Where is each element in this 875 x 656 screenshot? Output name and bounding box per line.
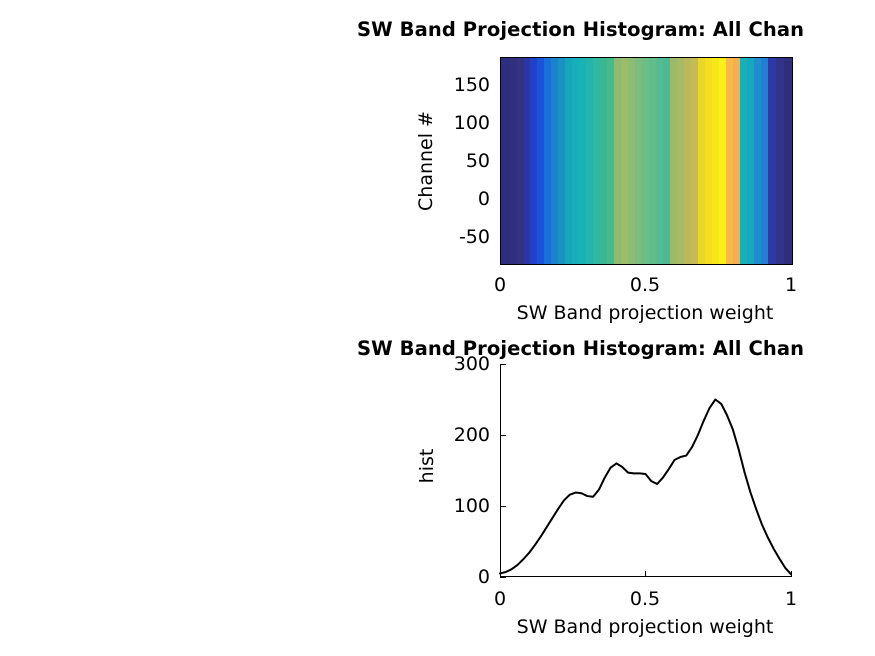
hist-ytick-100: 100 [434, 495, 490, 517]
hist-ytick-200: 200 [434, 424, 490, 446]
hist-line-plot [500, 364, 792, 578]
hist-line-path [500, 400, 791, 575]
image-axes-area[interactable] [500, 57, 793, 265]
image-xtick-1: 1 [771, 274, 811, 296]
image-xtick-0: 0 [480, 274, 520, 296]
image-panel-xlabel: SW Band projection weight [495, 302, 795, 324]
hist-panel-title: SW Band Projection Histogram: All Chan [357, 337, 804, 360]
hist-xtick-1: 1 [771, 588, 811, 610]
matlab-figure-canvas: SW Band Projection Histogram: All Chan C… [0, 0, 875, 656]
image-xtick-0-5: 0.5 [625, 274, 665, 296]
image-ytick-neg50: -50 [440, 226, 490, 248]
hist-xtick-0: 0 [480, 588, 520, 610]
heatmap-image [501, 58, 792, 264]
image-panel-ylabel: Channel # [415, 101, 437, 221]
hist-axes-area[interactable] [500, 364, 791, 577]
hist-ytick-300: 300 [434, 353, 490, 375]
hist-ytick-0: 0 [434, 566, 490, 588]
image-panel-title: SW Band Projection Histogram: All Chan [357, 18, 804, 41]
hist-panel-xlabel: SW Band projection weight [495, 616, 795, 638]
image-ytick-0: 0 [440, 188, 490, 210]
hist-xtick-0-5: 0.5 [625, 588, 665, 610]
image-ytick-50: 50 [440, 150, 490, 172]
image-ytick-150: 150 [440, 74, 490, 96]
image-ytick-100: 100 [440, 112, 490, 134]
